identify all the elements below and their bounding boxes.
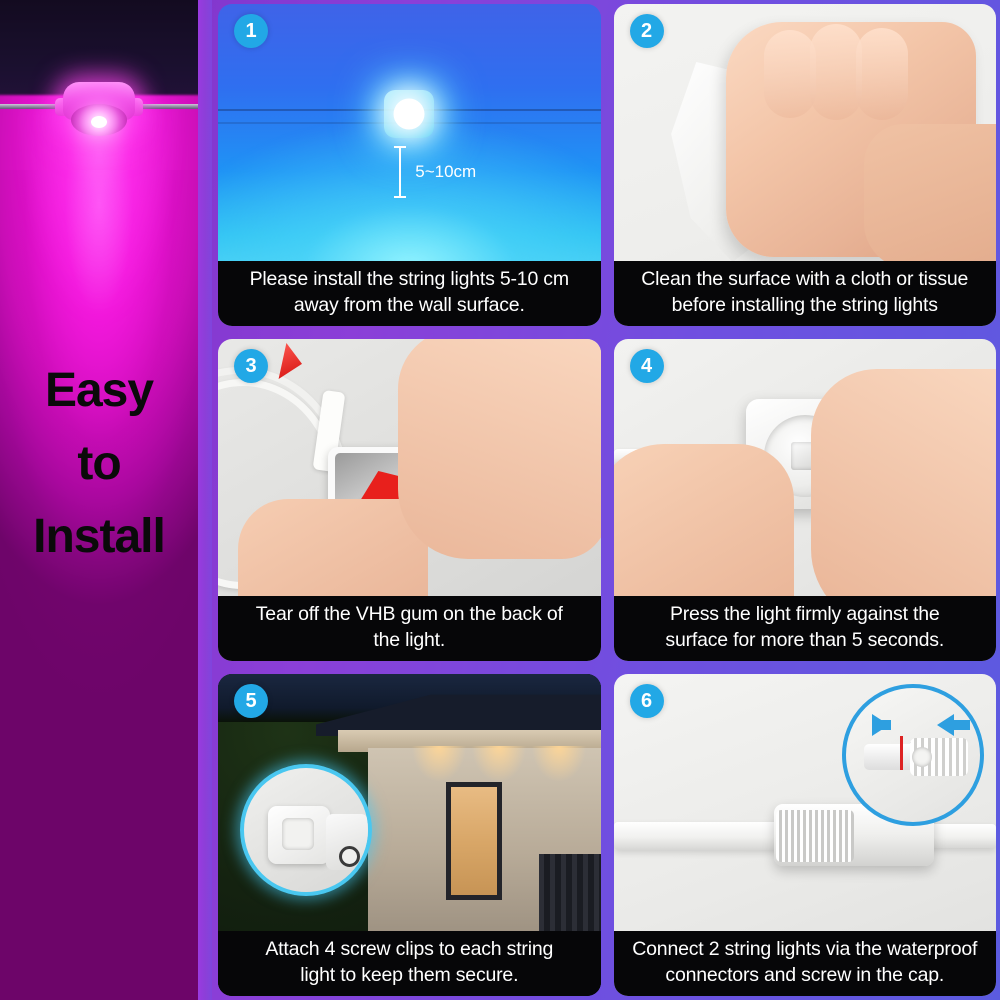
instruction-infographic: Easy to Install 5~10cm 1 Please install … (0, 0, 1000, 1000)
step-caption-3: Tear off the VHB gum on the back of the … (218, 596, 601, 661)
measurement-label: 5~10cm (415, 162, 476, 182)
knuckle-1 (764, 30, 816, 118)
house-window (446, 782, 502, 900)
caption-3-line-2: the light. (222, 628, 597, 653)
step-badge-4: 4 (630, 349, 664, 383)
step-caption-4: Press the light firmly against the surfa… (614, 596, 997, 661)
measurement-bar-icon (399, 146, 401, 198)
step-card-5[interactable]: 5 Attach 4 screw clips to each string li… (218, 674, 601, 996)
knuckle-3 (856, 28, 908, 120)
caption-6-line-1: Connect 2 string lights via the waterpro… (618, 937, 993, 962)
hero-panel: Easy to Install (0, 0, 198, 1000)
wall-spot-3 (530, 746, 588, 792)
connector-pin-red (900, 736, 903, 770)
screw-clip-closeup-inset (240, 764, 372, 896)
step-card-1[interactable]: 5~10cm 1 Please install the string light… (218, 4, 601, 326)
headline-line-2: to (0, 428, 198, 501)
wrist (864, 124, 997, 269)
caption-4-line-2: surface for more than 5 seconds. (618, 628, 993, 653)
female-connector (910, 738, 968, 776)
step-badge-2: 2 (630, 14, 664, 48)
caption-4-line-1: Press the light firmly against the (618, 602, 993, 627)
step-card-4[interactable]: 4 Press the light firmly against the sur… (614, 339, 997, 661)
screw-bracket (326, 814, 368, 870)
caption-2-line-2: before installing the string lights (618, 293, 993, 318)
step-caption-2: Clean the surface with a cloth or tissue… (614, 261, 997, 326)
hero-divider (198, 0, 212, 1000)
caption-5-line-1: Attach 4 screw clips to each string (222, 937, 597, 962)
caption-1-line-2: away from the wall surface. (222, 293, 597, 318)
connector-closeup-inset (842, 684, 984, 826)
caption-1-line-1: Please install the string lights 5-10 cm (222, 267, 597, 292)
step-card-6[interactable]: 6 Connect 2 string lights via the waterp… (614, 674, 997, 996)
led-core-glow (91, 116, 107, 128)
led-module-lit (384, 90, 434, 138)
thumb-right (811, 369, 996, 629)
vhb-pull-tab (276, 343, 302, 379)
arrow-left-icon (937, 714, 954, 736)
floor-light-pool (218, 118, 601, 268)
caption-5-line-2: light to keep them secure. (222, 963, 597, 988)
caption-2-line-1: Clean the surface with a cloth or tissue (618, 267, 993, 292)
step-badge-3: 3 (234, 349, 268, 383)
step-caption-1: Please install the string lights 5-10 cm… (218, 261, 601, 326)
headline-line-1: Easy (0, 355, 198, 428)
arrow-right-icon (872, 714, 889, 736)
step-card-2[interactable]: 2 Clean the surface with a cloth or tiss… (614, 4, 997, 326)
step-badge-5: 5 (234, 684, 268, 718)
step-caption-5: Attach 4 screw clips to each string ligh… (218, 931, 601, 996)
led-module-icon (55, 82, 143, 137)
step-badge-6: 6 (630, 684, 664, 718)
hand-pulling-tab (398, 339, 601, 559)
step-caption-6: Connect 2 string lights via the waterpro… (614, 931, 997, 996)
screw-clip (268, 806, 330, 864)
headline-line-3: Install (0, 501, 198, 574)
step-badge-1: 1 (234, 14, 268, 48)
caption-3-line-1: Tear off the VHB gum on the back of (222, 602, 597, 627)
hero-headline: Easy to Install (0, 355, 198, 574)
caption-6-line-2: connectors and screw in the cap. (618, 963, 993, 988)
connector-knurled-cap (776, 810, 854, 862)
module-lens (71, 104, 127, 136)
step-card-3[interactable]: 3 Tear off the VHB gum on the back of th… (218, 339, 601, 661)
steps-grid: 5~10cm 1 Please install the string light… (218, 0, 1000, 1000)
knuckle-2 (810, 24, 862, 120)
